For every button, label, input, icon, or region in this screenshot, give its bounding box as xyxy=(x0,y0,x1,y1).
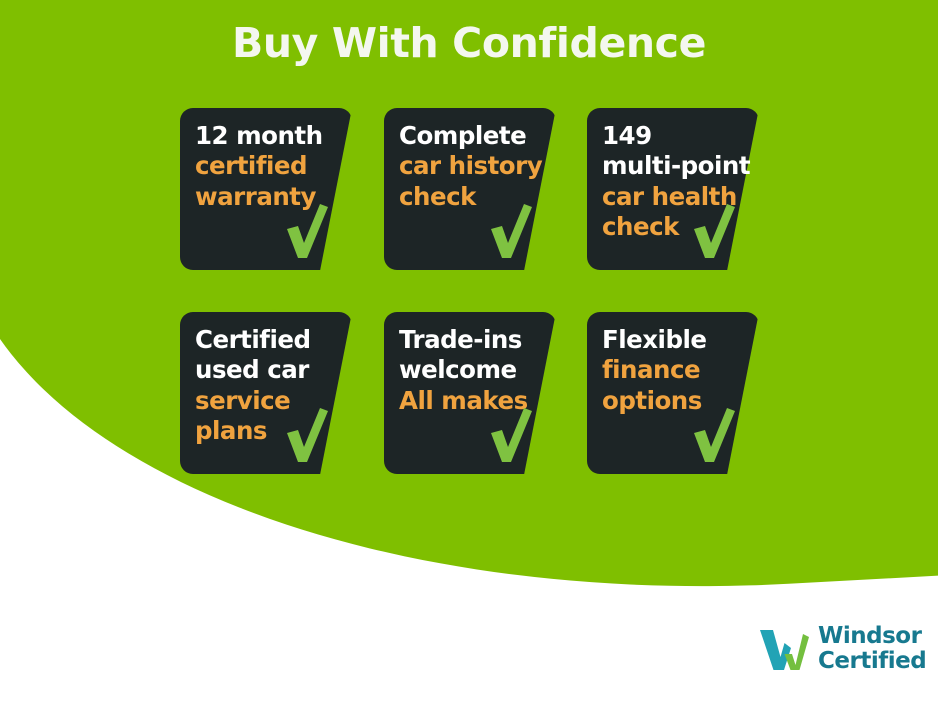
card-line: car history xyxy=(399,151,538,181)
benefit-card-12-month-certified-warranty[interactable]: 12 month certified warranty xyxy=(180,108,352,270)
card-line: welcome xyxy=(399,355,538,385)
card-line: 12 month xyxy=(195,121,334,151)
benefit-card-grid: 12 month certified warranty Complete car… xyxy=(180,108,760,516)
promo-banner: Buy With Confidence 12 month certified w… xyxy=(0,0,938,704)
check-mark-icon xyxy=(488,406,534,464)
check-mark-icon xyxy=(284,202,330,260)
card-line: certified xyxy=(195,151,334,181)
check-mark-icon xyxy=(284,406,330,464)
check-mark-icon xyxy=(691,202,737,260)
card-line: Certified xyxy=(195,325,334,355)
card-row-2: Certified used car service plans Trade-i… xyxy=(180,312,760,516)
card-line: Complete xyxy=(399,121,538,151)
benefit-card-149-multi-point-car-health-check[interactable]: 149 multi-point car health check xyxy=(587,108,759,270)
card-line: Trade-ins xyxy=(399,325,538,355)
logo-wordmark: Windsor Certified xyxy=(818,624,926,673)
benefit-card-trade-ins-welcome-all-makes[interactable]: Trade-ins welcome All makes xyxy=(384,312,556,474)
check-mark-icon xyxy=(488,202,534,260)
page-title: Buy With Confidence xyxy=(0,19,938,67)
benefit-card-certified-used-car-service-plans[interactable]: Certified used car service plans xyxy=(180,312,352,474)
card-text: Trade-ins welcome All makes xyxy=(399,325,538,416)
benefit-card-flexible-finance-options[interactable]: Flexible finance options xyxy=(587,312,759,474)
benefit-card-complete-car-history-check[interactable]: Complete car history check xyxy=(384,108,556,270)
card-line: Flexible xyxy=(602,325,741,355)
logo-line-1: Windsor xyxy=(818,624,926,649)
card-line: used car xyxy=(195,355,334,385)
windsor-certified-logo[interactable]: Windsor Certified xyxy=(757,624,926,674)
logo-line-2: Certified xyxy=(818,649,926,674)
check-mark-icon xyxy=(691,406,737,464)
windsor-w-mark-icon xyxy=(757,624,809,674)
card-row-1: 12 month certified warranty Complete car… xyxy=(180,108,760,312)
card-line: 149 xyxy=(602,121,741,151)
card-text: 12 month certified warranty xyxy=(195,121,334,212)
card-text: Complete car history check xyxy=(399,121,538,212)
card-line: finance xyxy=(602,355,741,385)
card-text: Flexible finance options xyxy=(602,325,741,416)
card-line: multi-point xyxy=(602,151,741,181)
